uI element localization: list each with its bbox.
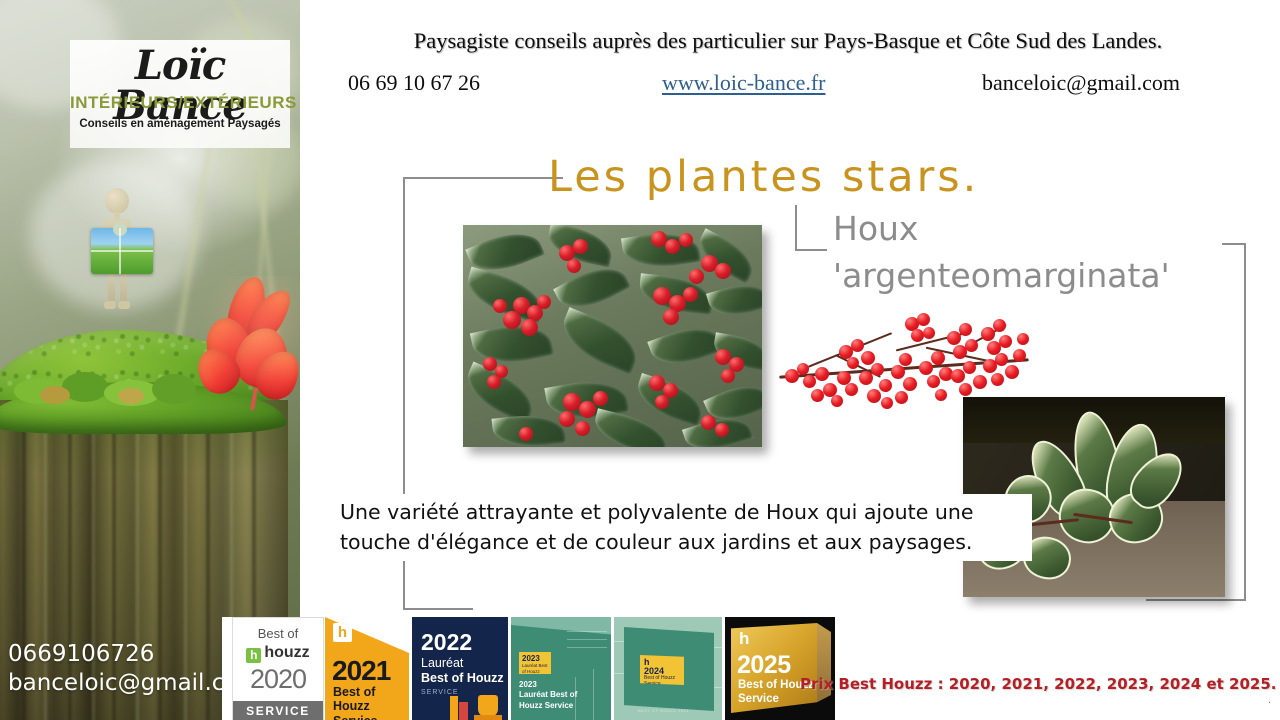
houzz-badge-2021: h 2021 Best of Houzz Service [325, 617, 409, 720]
houzz-badge-2025: h 2025 Best of Houzz Service [725, 617, 835, 720]
logo-name: Loïc Bance [70, 46, 290, 126]
description-line-2: touche d'élégance et de couleur aux jard… [340, 528, 1030, 558]
badge-2022-year: 2022 [421, 629, 472, 656]
badge-2021-text: Best of Houzz Service [333, 685, 409, 720]
plant-name-line2: 'argenteomarginata' [833, 252, 1170, 299]
badge-2023-chip: 2023 Lauréat Best of Houzz [519, 652, 551, 674]
bracket-subtitle-vertical [795, 205, 797, 251]
badge-2020-bestof: Best of [233, 626, 323, 641]
logo-tagline: Conseils en aménagement Paysagés [70, 118, 290, 130]
bracket-right-top [1222, 243, 1246, 245]
bracket-left-top [403, 177, 563, 179]
houzz-badge-2022: 2022 Lauréat Best of Houzz SERVICE [412, 617, 508, 720]
houzz-badge-2023: 2023 Lauréat Best of Houzz 2023 Lauréat … [511, 617, 611, 720]
bracket-left-vertical-upper [403, 177, 405, 497]
logo-card: Loïc Bance INTÉRIEURS/EXTÉRIEURS Conseil… [70, 40, 290, 148]
book-icon [459, 702, 468, 720]
plant-name: Houx 'argenteomarginata' [833, 205, 1170, 299]
houzz-logo-icon: h [246, 648, 261, 663]
header-email: banceloic@gmail.com [982, 70, 1180, 96]
houzz-badge-2024: h 2024 Best of Houzz Service BEST OF HOU… [614, 617, 722, 720]
bracket-right-bottom [1146, 599, 1246, 601]
badge-2022-line2: Best of Houzz [421, 671, 504, 685]
houzz-badges-row: Best of hhouzz 2020 SERVICE h 2021 Best … [222, 617, 772, 720]
trophy-icon [478, 695, 498, 717]
badge-2021-year: 2021 [332, 655, 390, 687]
holly-berries-photo [463, 225, 762, 447]
description-line-1: Une variété attrayante et polyvalente de… [340, 498, 1030, 528]
badge-2024-chip: h 2024 Best of Houzz Service [640, 655, 684, 685]
bracket-left-bottom [403, 608, 473, 610]
houzz-logo-icon: h [739, 629, 749, 649]
plant-name-line1: Houx [833, 205, 1170, 252]
header-phone: 06 69 10 67 26 [348, 70, 480, 96]
figurine [95, 188, 139, 314]
slide-page: Loïc Bance INTÉRIEURS/EXTÉRIEURS Conseil… [0, 0, 1280, 720]
bracket-subtitle-horizontal [795, 249, 827, 251]
badge-2022-line1: Lauréat [421, 656, 463, 670]
awards-caption: Prix Best Houzz : 2020, 2021, 2022, 2023… [800, 675, 1276, 693]
header-website-link[interactable]: www.loic-bance.fr [662, 70, 826, 96]
cover-photo: Loïc Bance INTÉRIEURS/EXTÉRIEURS Conseil… [0, 0, 300, 720]
badge-2020-houzz: hhouzz [233, 644, 323, 663]
houzz-logo-icon: h [333, 623, 352, 642]
badge-2024-footnote: BEST OF HOUZZ 2024 [638, 708, 689, 713]
badge-2025-year: 2025 [737, 651, 791, 680]
book-icon [450, 696, 458, 720]
plant-description: Une variété attrayante et polyvalente de… [338, 494, 1032, 561]
page-title: Les plantes stars. [548, 152, 979, 202]
page-tick: . [1268, 694, 1271, 706]
badge-2020-year: 2020 [233, 664, 323, 695]
houzz-badge-2020: Best of hhouzz 2020 SERVICE [232, 617, 324, 720]
bracket-right-vertical [1244, 243, 1246, 601]
logo-subtitle: INTÉRIEURS/EXTÉRIEURS [70, 93, 290, 113]
header-tagline: Paysagiste conseils auprès des particuli… [348, 28, 1228, 54]
badge-2022-service: SERVICE [421, 689, 459, 696]
badge-2023-text: 2023 Lauréat Best of Houzz Service [519, 680, 577, 711]
badge-2020-service: SERVICE [233, 701, 323, 720]
